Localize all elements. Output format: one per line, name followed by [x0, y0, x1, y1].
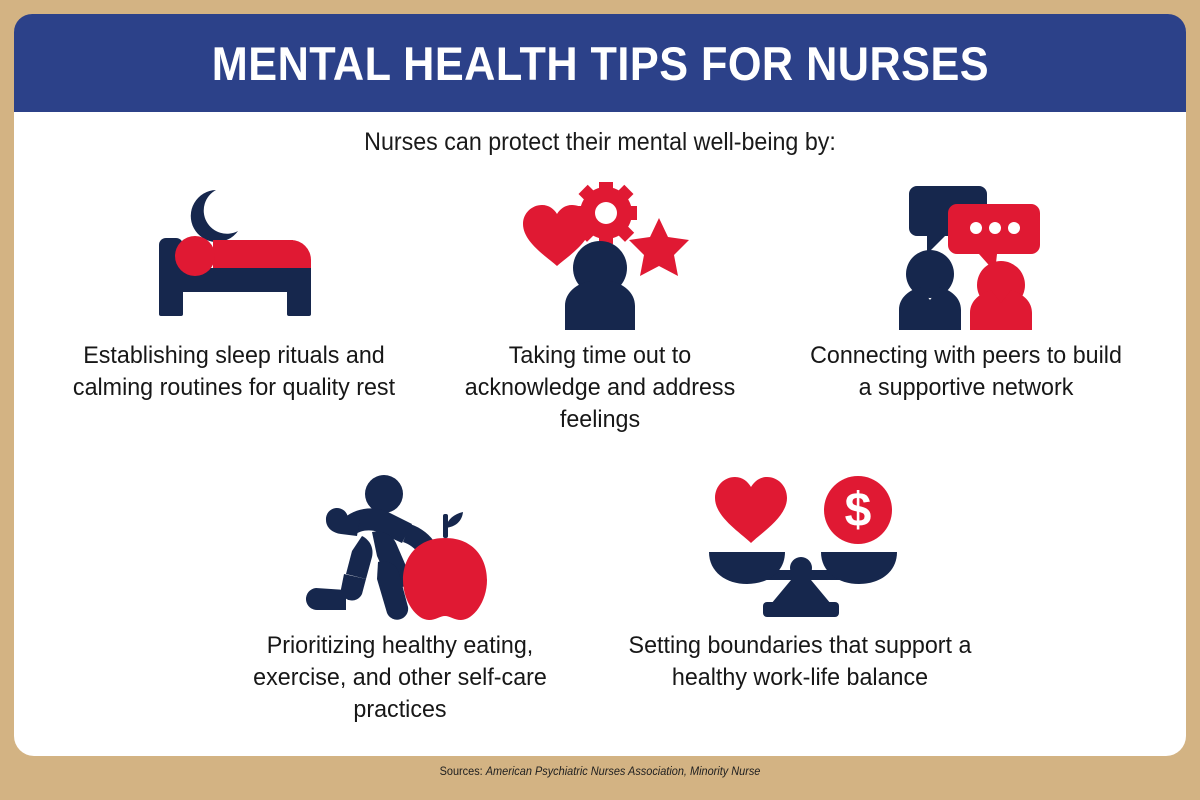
tip-card-boundaries: $ Setting boundaries that support a heal… [600, 470, 1000, 726]
subtitle: Nurses can protect their mental well-bei… [42, 128, 1158, 157]
running-person-apple-icon [300, 470, 500, 620]
sources-line: Sources: American Psychiatric Nurses Ass… [30, 766, 1170, 778]
tips-row-top: Establishing sleep rituals and calming r… [0, 180, 1200, 436]
person-feelings-heart-gear-star-icon [507, 180, 693, 330]
tips-row-bottom: Prioritizing healthy eating, exercise, a… [0, 470, 1200, 726]
tip-card-peers: Connecting with peers to build a support… [783, 180, 1149, 436]
tip-card-sleep: Establishing sleep rituals and calming r… [51, 180, 417, 436]
tip-caption: Setting boundaries that support a health… [624, 630, 976, 694]
sleep-bed-moon-icon [141, 180, 327, 330]
balance-scale-heart-dollar-icon: $ [695, 470, 905, 620]
tip-card-feelings: Taking time out to acknowledge and addre… [417, 180, 783, 436]
tip-caption: Connecting with peers to build a support… [805, 340, 1128, 404]
tip-caption: Prioritizing healthy eating, exercise, a… [224, 630, 576, 726]
header-bar: MENTAL HEALTH TIPS FOR NURSES [14, 14, 1186, 112]
tip-caption: Taking time out to acknowledge and addre… [439, 340, 762, 436]
page-title: MENTAL HEALTH TIPS FOR NURSES [211, 36, 988, 91]
infographic-frame: MENTAL HEALTH TIPS FOR NURSES Nurses can… [0, 0, 1200, 800]
tip-caption: Establishing sleep rituals and calming r… [73, 340, 396, 404]
sources-label: Sources: [440, 766, 483, 778]
svg-text:$: $ [845, 484, 872, 537]
sources-names: American Psychiatric Nurses Association,… [486, 766, 761, 778]
peers-speech-bubbles-icon [873, 180, 1059, 330]
tip-card-exercise: Prioritizing healthy eating, exercise, a… [200, 470, 600, 726]
